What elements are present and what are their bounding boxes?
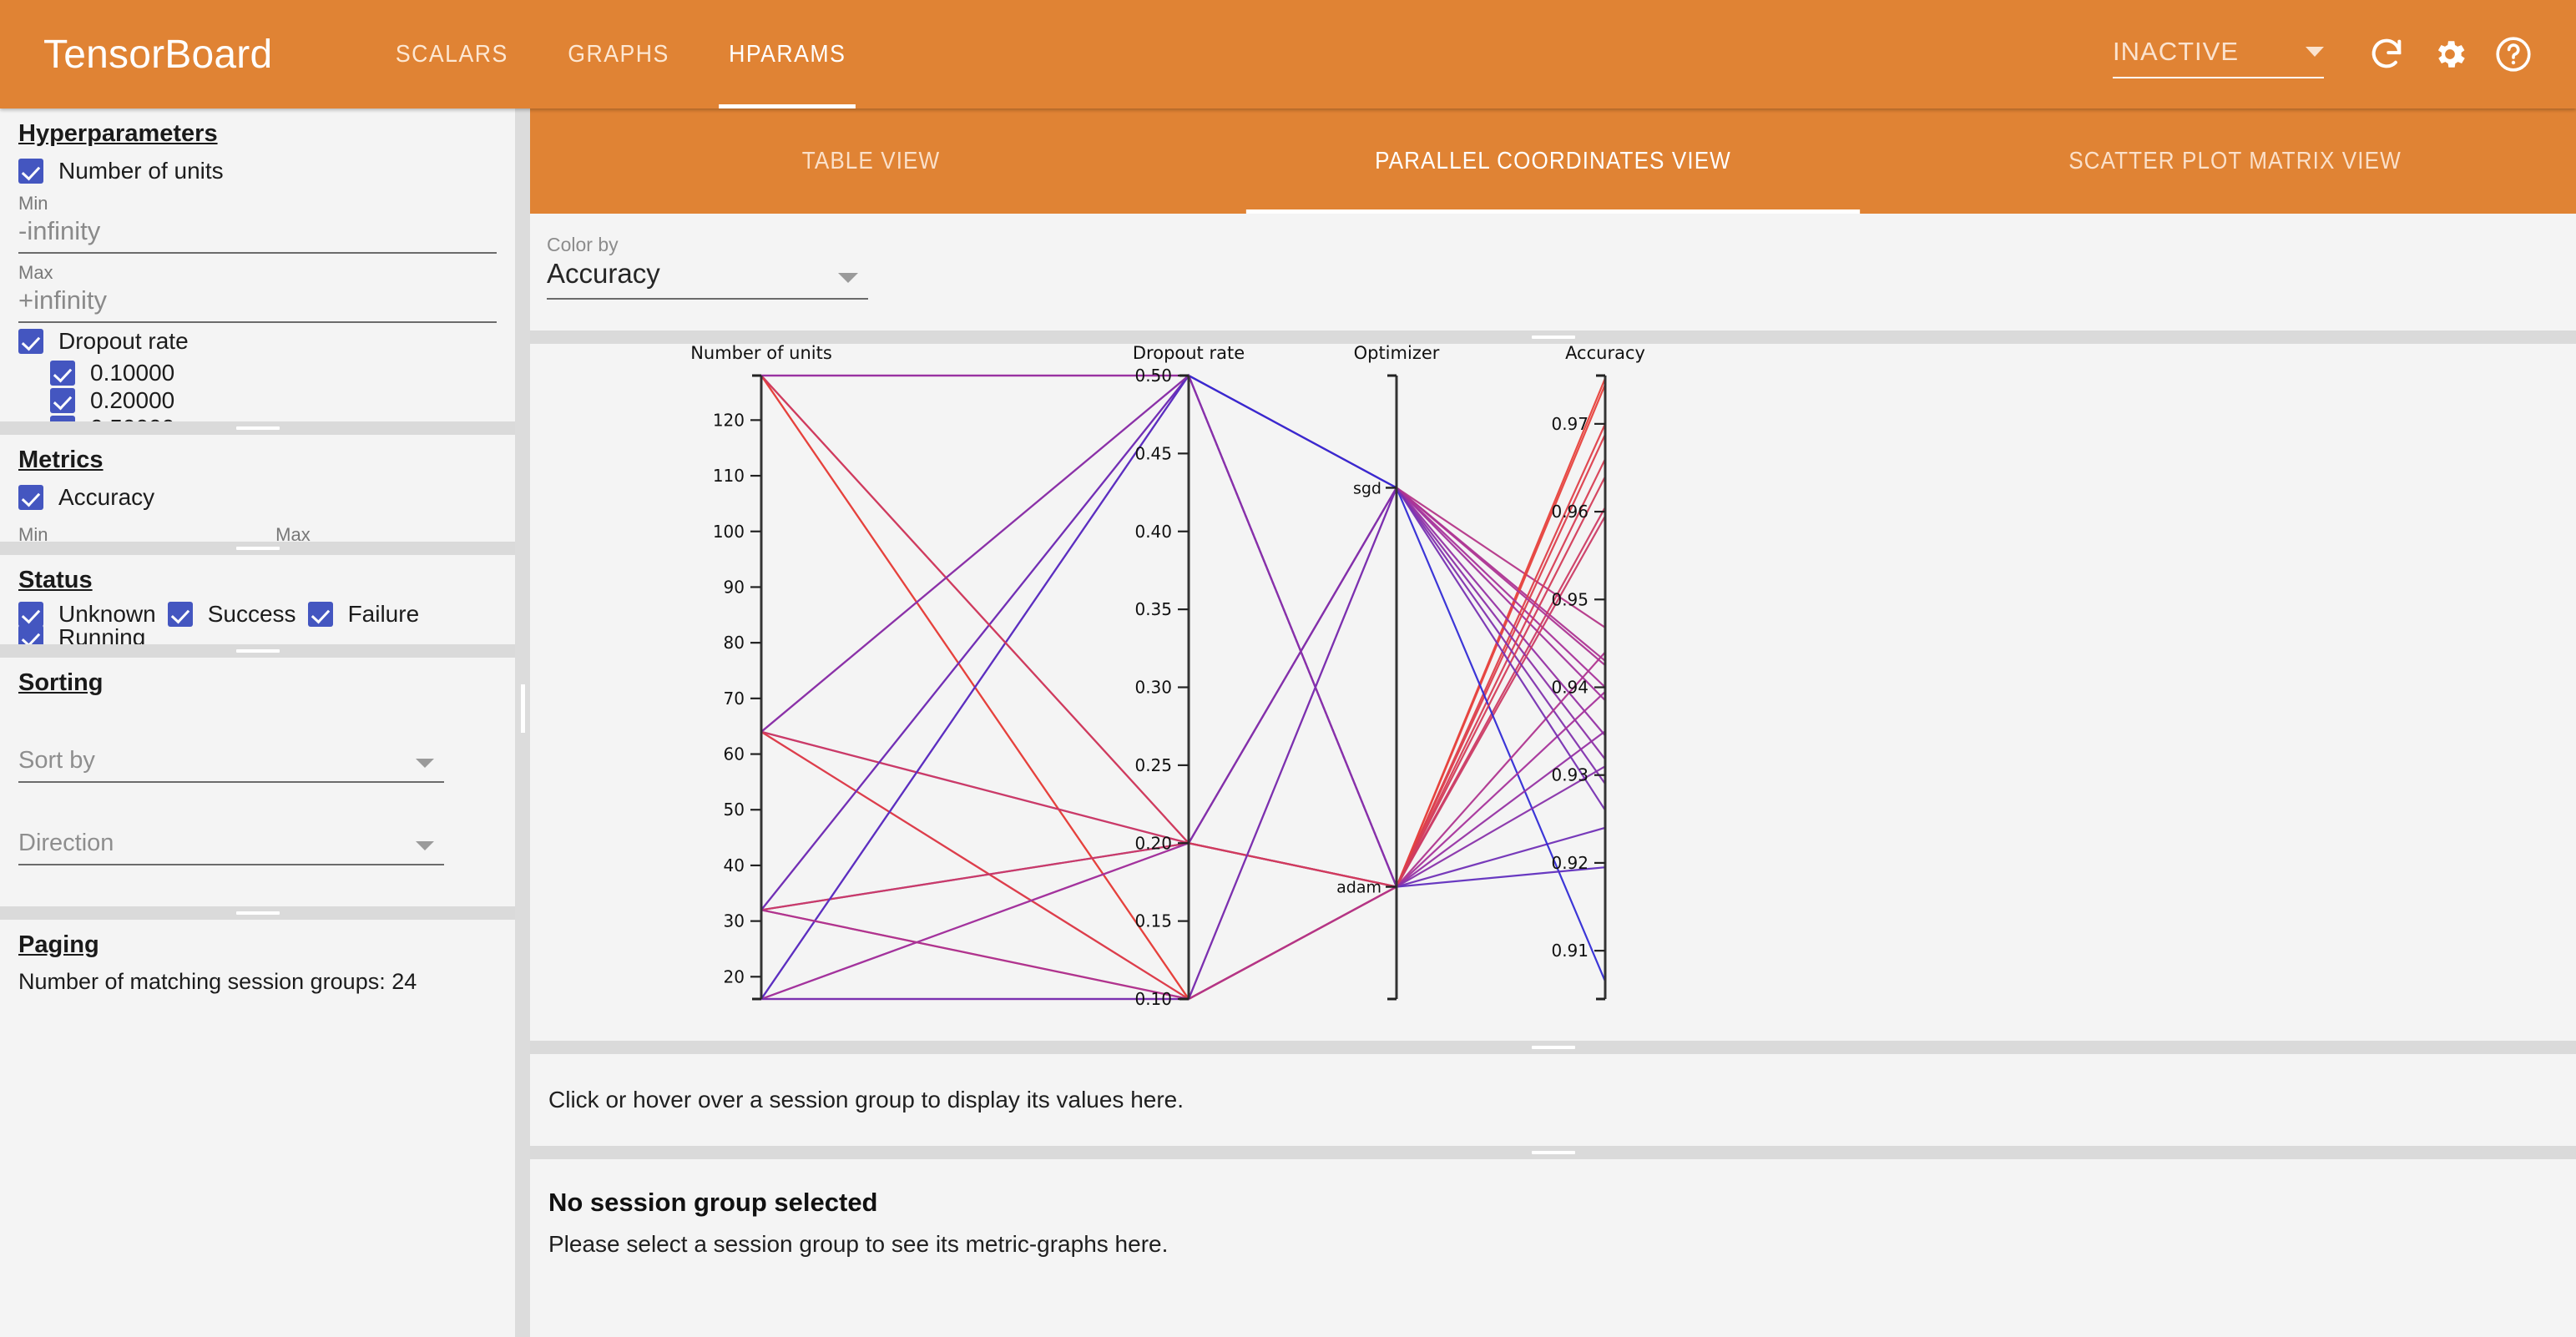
sorting-panel: Sorting Sort by Direction (0, 658, 515, 906)
session-group-panel: No session group selected Please select … (530, 1159, 2576, 1326)
left-sidebar: Hyperparameters Number of units Min -inf… (0, 108, 515, 1337)
hparam-label: Number of units (58, 158, 224, 184)
app-title: TensorBoard (43, 32, 272, 78)
hover-values-panel: Click or hover over a session group to d… (530, 1054, 2576, 1146)
status-label: Running (58, 624, 145, 644)
checkbox-dropout-rate[interactable] (18, 329, 43, 354)
reload-icon[interactable] (2361, 28, 2412, 80)
checkbox-status-running[interactable] (18, 625, 43, 644)
color-by-select[interactable]: Color by Accuracy (547, 234, 868, 300)
session-line[interactable] (761, 459, 1605, 999)
direction-value: Direction (18, 830, 444, 865)
run-state-label: INACTIVE (2113, 37, 2239, 67)
hparam-value-row[interactable]: 0.20000 (50, 387, 497, 414)
nav-tab-scalars[interactable]: SCALARS (373, 0, 532, 108)
checkbox-status-success[interactable] (168, 602, 193, 627)
metrics-title: Metrics (18, 447, 104, 474)
session-line[interactable] (761, 376, 1605, 910)
axis-accuracy: Accuracy0.910.920.930.940.950.960.97 (1551, 344, 1644, 999)
min-label: Min (18, 524, 239, 542)
panel-splitter-metrics[interactable] (0, 542, 515, 555)
metric-accuracy-row[interactable]: Accuracy (18, 484, 497, 511)
max-input[interactable]: +infinity (18, 285, 497, 323)
hparam-dropout-rate-row[interactable]: Dropout rate (18, 328, 497, 355)
session-line[interactable] (761, 424, 1605, 999)
axis-tick-label: 30 (724, 911, 745, 931)
direction-select[interactable]: Direction (18, 830, 444, 865)
sort-by-select[interactable]: Sort by (18, 747, 444, 783)
number-of-units-min-field[interactable]: Min -infinity (18, 193, 497, 254)
session-line[interactable] (761, 487, 1605, 999)
axis-tick-label: 0.40 (1134, 522, 1172, 542)
chevron-down-icon (416, 841, 434, 850)
color-by-label: Color by (547, 234, 868, 256)
axis-tick-label: 120 (713, 410, 745, 430)
axis-tick-label: 40 (724, 855, 745, 875)
chevron-down-icon (838, 273, 858, 283)
matching-session-groups-count: Number of matching session groups: 24 (18, 969, 497, 995)
accuracy-min-field[interactable]: Min -infinity (18, 524, 239, 542)
panel-splitter-chart[interactable] (530, 1041, 2576, 1054)
session-line[interactable] (761, 487, 1605, 910)
help-circle-icon[interactable] (2488, 28, 2539, 80)
hyperparameters-panel: Hyperparameters Number of units Min -inf… (0, 108, 515, 421)
max-label: Max (18, 262, 497, 284)
sidebar-resize-handle[interactable] (515, 108, 530, 1337)
axis-tick-label: 0.30 (1134, 678, 1172, 698)
app-bar: TensorBoard SCALARS GRAPHS HPARAMS INACT… (0, 0, 2576, 108)
session-line[interactable] (761, 487, 1605, 999)
checkbox-dropout-0-5[interactable] (50, 416, 75, 421)
session-line[interactable] (761, 487, 1605, 999)
nav-tab-hparams[interactable]: HPARAMS (706, 0, 869, 108)
axis-tick-label: 100 (713, 522, 745, 542)
axis-title: Optimizer (1354, 344, 1440, 363)
axis-tick-label: 50 (724, 800, 745, 820)
session-line[interactable] (761, 376, 1605, 910)
axis-tick-label: 0.45 (1134, 443, 1172, 463)
color-by-bar: Color by Accuracy (530, 214, 2576, 330)
status-running-row[interactable]: Running (18, 624, 497, 644)
paging-panel: Paging Number of matching session groups… (0, 920, 515, 995)
panel-splitter-hover[interactable] (530, 1146, 2576, 1159)
hparam-value-label: 0.50000 (90, 415, 174, 421)
hparam-value-row[interactable]: 0.50000 (50, 415, 497, 421)
checkbox-number-of-units[interactable] (18, 159, 43, 184)
checkbox-dropout-0-1[interactable] (50, 361, 75, 386)
session-group-title: No session group selected (548, 1188, 2576, 1218)
min-input[interactable]: -infinity (18, 216, 497, 254)
app-bar-actions: INACTIVE (2113, 28, 2539, 80)
paging-title: Paging (18, 931, 99, 959)
session-line[interactable] (761, 376, 1605, 628)
hparam-value-label: 0.10000 (90, 360, 174, 386)
chevron-down-icon (416, 759, 434, 768)
axis-tick-label: 0.20 (1134, 833, 1172, 853)
run-state-select[interactable]: INACTIVE (2113, 37, 2324, 72)
metrics-panel: Metrics Accuracy Min -infinity Max +infi… (0, 435, 515, 542)
chevron-down-icon (2306, 47, 2324, 57)
panel-splitter-status[interactable] (0, 644, 515, 658)
status-title: Status (18, 567, 93, 594)
axis-tick-label: 80 (724, 633, 745, 653)
axis-number-of-units: Number of units2030405060708090100110120 (690, 344, 832, 999)
checkbox-dropout-0-2[interactable] (50, 388, 75, 413)
axis-tick-label: adam (1336, 879, 1381, 897)
hover-hint-text: Click or hover over a session group to d… (548, 1087, 1184, 1113)
status-panel: Status Unknown Success Failure Running (0, 555, 515, 644)
axis-tick-label: 90 (724, 577, 745, 597)
axis-tick-label: 0.91 (1551, 941, 1589, 961)
axis-tick-label: 0.50 (1134, 366, 1172, 386)
axis-tick-label: 0.10 (1134, 989, 1172, 1009)
tab-parallel-coordinates-view[interactable]: PARALLEL COORDINATES VIEW (1246, 108, 1860, 214)
session-line[interactable] (761, 507, 1605, 887)
checkbox-accuracy[interactable] (18, 485, 43, 510)
parallel-coordinates-chart[interactable]: Number of units2030405060708090100110120… (530, 344, 2576, 1041)
checkbox-status-unknown[interactable] (18, 602, 43, 627)
tab-scatter-plot-matrix-view[interactable]: SCATTER PLOT MATRIX VIEW (1928, 108, 2542, 214)
axis-tick-label: 0.93 (1551, 765, 1589, 785)
axis-tick-label: 60 (724, 744, 745, 764)
view-tabs: TABLE VIEW PARALLEL COORDINATES VIEW SCA… (530, 108, 2576, 214)
session-line[interactable] (761, 376, 1605, 732)
hparam-value-row[interactable]: 0.10000 (50, 360, 497, 386)
axis-tick-label: 0.35 (1134, 599, 1172, 619)
accuracy-max-field[interactable]: Max +infinity (275, 524, 496, 542)
checkbox-status-failure[interactable] (308, 602, 333, 627)
axis-tick-label: 0.15 (1134, 911, 1172, 931)
axis-tick-label: 0.96 (1551, 502, 1589, 522)
axis-tick-label: 110 (713, 466, 745, 486)
select-underline (2113, 77, 2324, 78)
session-group-subtitle: Please select a session group to see its… (548, 1231, 2576, 1258)
min-label: Min (18, 193, 497, 214)
gear-icon[interactable] (2424, 28, 2476, 80)
axis-title: Dropout rate (1133, 344, 1245, 363)
axis-tick-label: 0.94 (1551, 678, 1589, 698)
metric-label: Accuracy (58, 484, 154, 511)
axis-tick-label: 20 (724, 966, 745, 986)
hparam-label: Dropout rate (58, 328, 189, 355)
primary-nav-tabs: SCALARS GRAPHS HPARAMS (366, 0, 876, 108)
panel-splitter-hyperparameters[interactable] (0, 421, 515, 435)
parallel-coordinates-svg[interactable]: Number of units2030405060708090100110120… (530, 344, 2576, 1041)
axis-tick-label: 0.97 (1551, 414, 1589, 434)
axis-tick-label: 0.25 (1134, 755, 1172, 775)
axis-title: Accuracy (1565, 344, 1645, 363)
panel-splitter-colorby[interactable] (530, 330, 2576, 344)
axis-tick-label: sgd (1353, 479, 1381, 497)
session-line[interactable] (761, 487, 1605, 843)
sort-by-value: Sort by (18, 747, 444, 783)
hyperparameters-title: Hyperparameters (18, 120, 218, 148)
axis-dropout-rate: Dropout rate0.100.150.200.250.300.350.40… (1133, 344, 1245, 1009)
axis-optimizer: Optimizeradamsgd (1336, 344, 1440, 999)
axis-tick-label: 0.95 (1551, 589, 1589, 609)
session-line[interactable] (761, 516, 1605, 910)
panel-splitter-sorting[interactable] (0, 906, 515, 920)
sorting-title: Sorting (18, 669, 104, 697)
number-of-units-max-field[interactable]: Max +infinity (18, 262, 497, 323)
hparam-number-of-units-row[interactable]: Number of units (18, 158, 497, 184)
color-by-value: Accuracy (547, 258, 868, 300)
max-label: Max (275, 524, 496, 542)
main-content: TABLE VIEW PARALLEL COORDINATES VIEW SCA… (530, 108, 2576, 1337)
hparam-value-label: 0.20000 (90, 387, 174, 414)
axis-tick-label: 70 (724, 689, 745, 709)
tab-table-view[interactable]: TABLE VIEW (564, 108, 1178, 214)
axis-title: Number of units (690, 344, 832, 363)
axis-tick-label: 0.92 (1551, 853, 1589, 873)
nav-tab-graphs[interactable]: GRAPHS (545, 0, 693, 108)
